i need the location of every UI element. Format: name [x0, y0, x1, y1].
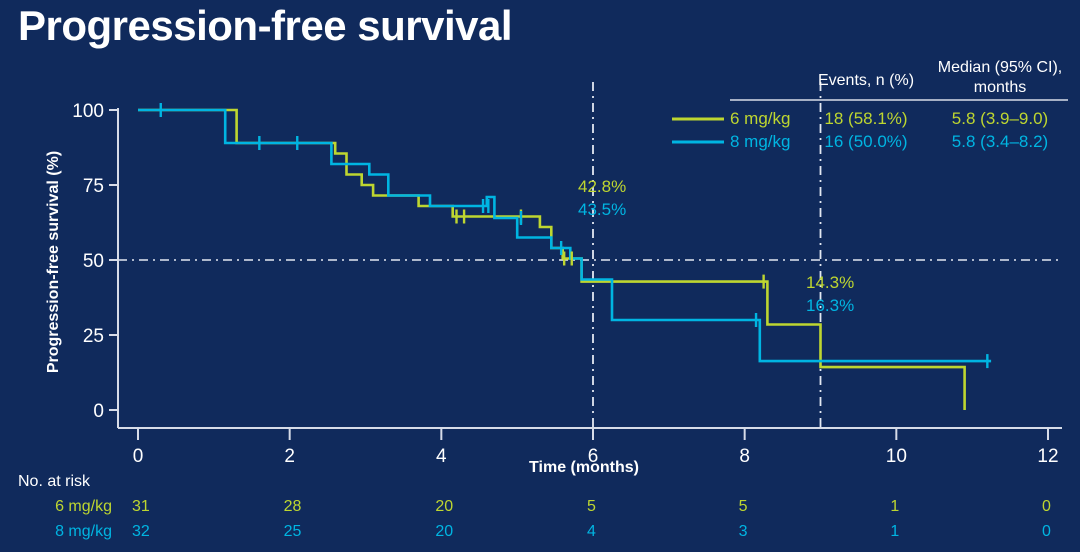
x-axis-title: Time (months)	[529, 459, 639, 476]
legend-events-1: 16 (50.0%)	[824, 132, 907, 151]
risk-value-0-1: 28	[284, 498, 302, 515]
chart-legend: Events, n (%)Median (95% CI),months6 mg/…	[672, 59, 1068, 151]
number-at-risk-table: No. at risk6 mg/kg31282055108 mg/kg32252…	[18, 473, 1051, 540]
y-tick-label-100: 100	[72, 101, 104, 122]
risk-value-1-3: 4	[587, 523, 596, 540]
landmark-annotations: 42.8%43.5%14.3%16.3%	[578, 177, 854, 315]
annotation-2: 14.3%	[806, 273, 854, 292]
legend-median-0: 5.8 (3.9–9.0)	[952, 109, 1048, 128]
risk-value-0-6: 0	[1042, 498, 1051, 515]
y-tick-label-0: 0	[93, 401, 104, 422]
risk-row-label-1: 8 mg/kg	[55, 523, 112, 540]
y-tick-label-25: 25	[83, 326, 104, 347]
legend-events-0: 18 (58.1%)	[824, 109, 907, 128]
annotation-0: 42.8%	[578, 177, 626, 196]
risk-value-0-0: 31	[132, 498, 150, 515]
x-tick-label-10: 10	[886, 446, 907, 467]
risk-table-heading: No. at risk	[18, 473, 91, 490]
x-tick-label-12: 12	[1037, 446, 1058, 467]
kaplan-meier-chart: 0255075100 024681012 Progression-free su…	[0, 0, 1080, 552]
x-tick-label-2: 2	[284, 446, 295, 467]
chart-axes	[118, 108, 1062, 428]
x-tick-label-0: 0	[133, 446, 144, 467]
y-tick-label-50: 50	[83, 251, 104, 272]
risk-value-0-5: 1	[890, 498, 899, 515]
x-tick-label-8: 8	[739, 446, 750, 467]
risk-value-1-0: 32	[132, 523, 150, 540]
y-axis-ticks: 0255075100	[72, 101, 118, 422]
y-tick-label-75: 75	[83, 176, 104, 197]
risk-value-0-2: 20	[435, 498, 453, 515]
legend-arm-1: 8 mg/kg	[730, 132, 790, 151]
annotation-1: 43.5%	[578, 200, 626, 219]
risk-value-0-4: 5	[739, 498, 748, 515]
annotation-3: 16.3%	[806, 296, 854, 315]
y-axis-title: Progression-free survival (%)	[45, 151, 62, 373]
risk-value-1-4: 3	[739, 523, 748, 540]
risk-value-1-1: 25	[284, 523, 302, 540]
legend-header-events: Events, n (%)	[818, 72, 914, 89]
slide-root: Progression-free survival 0255075100 024…	[0, 0, 1080, 552]
risk-value-1-2: 20	[435, 523, 453, 540]
reference-lines	[118, 82, 1062, 428]
legend-header-median-units: months	[974, 79, 1026, 96]
legend-arm-0: 6 mg/kg	[730, 109, 790, 128]
legend-header-median: Median (95% CI),	[938, 59, 1063, 76]
risk-value-1-6: 0	[1042, 523, 1051, 540]
legend-median-1: 5.8 (3.4–8.2)	[952, 132, 1048, 151]
x-tick-label-4: 4	[436, 446, 447, 467]
risk-value-1-5: 1	[890, 523, 899, 540]
risk-value-0-3: 5	[587, 498, 596, 515]
risk-row-label-0: 6 mg/kg	[55, 498, 112, 515]
